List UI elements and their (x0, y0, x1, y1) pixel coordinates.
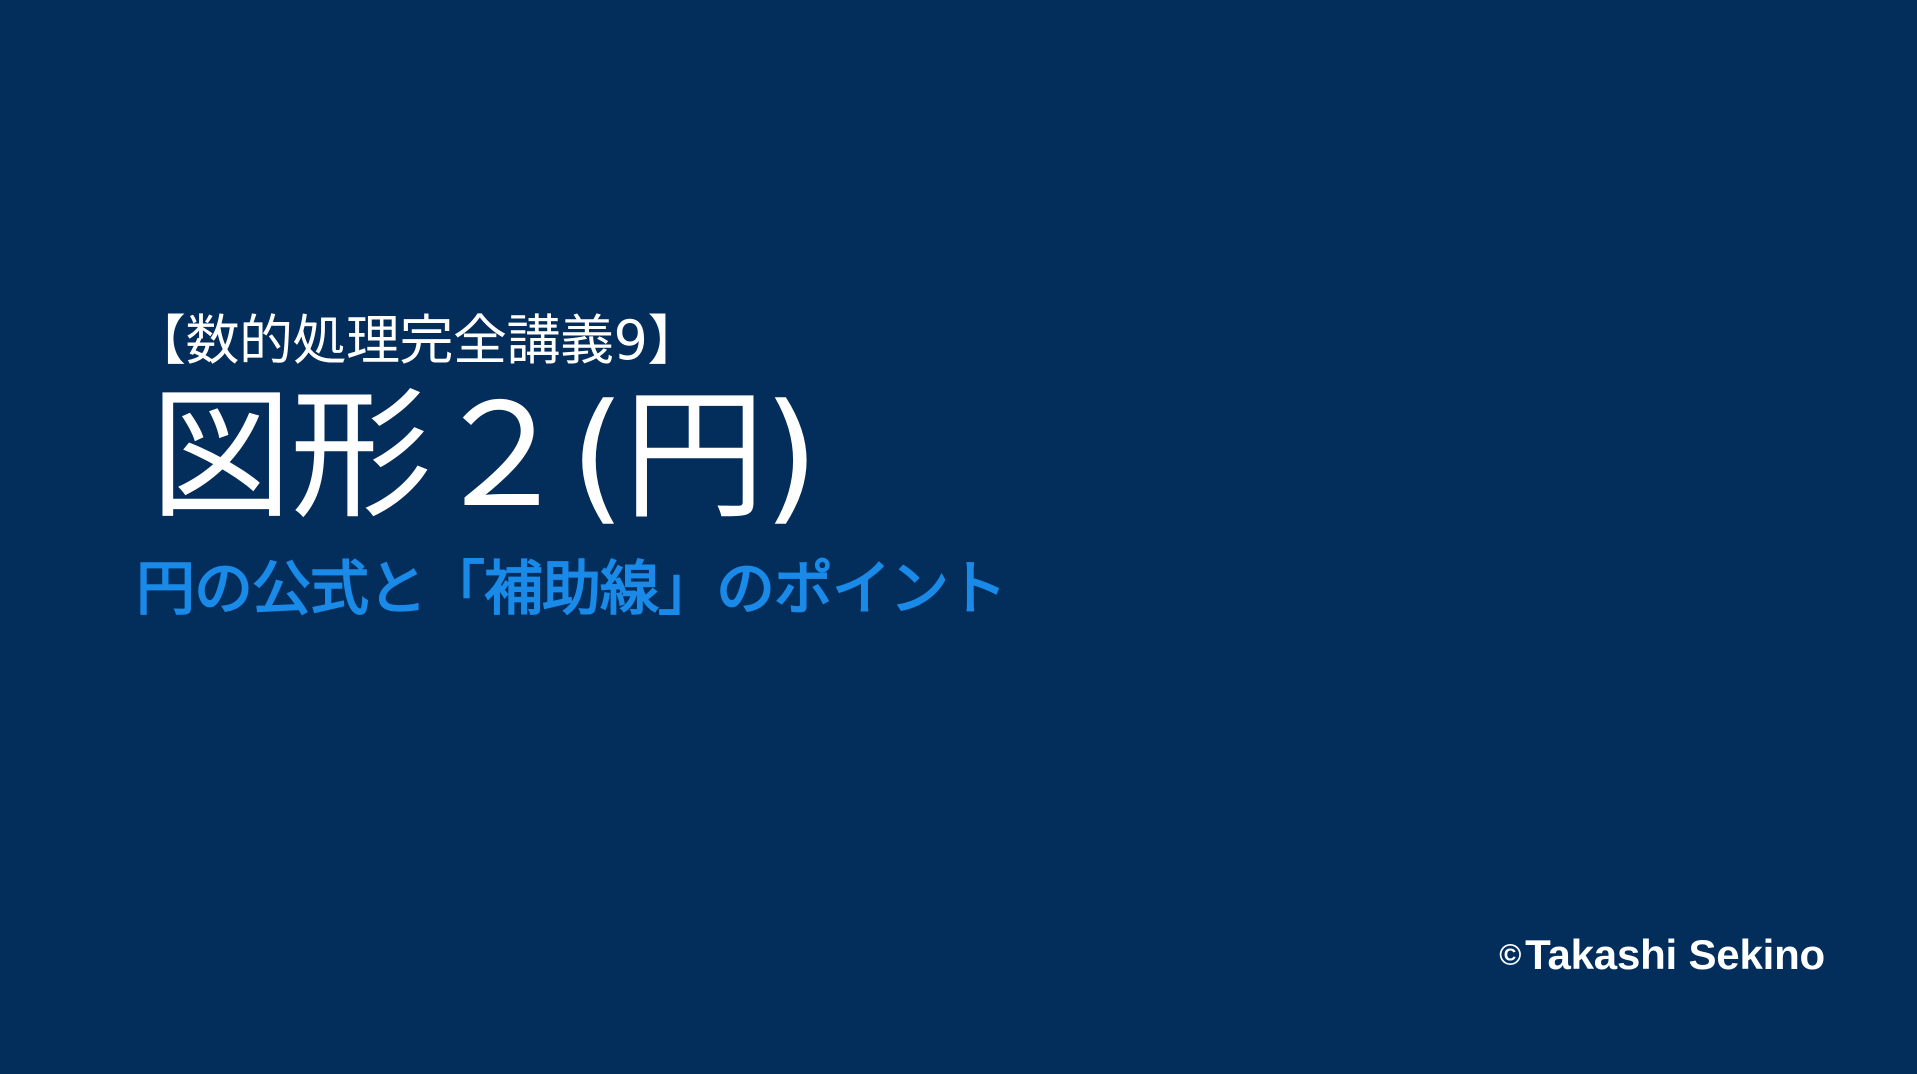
copyright-notice: ©Takashi Sekino (1499, 934, 1825, 976)
copyright-icon: © (1499, 939, 1521, 972)
copyright-name: Takashi Sekino (1525, 931, 1825, 978)
series-eyebrow: 【数的処理完全講義9】 (132, 312, 1532, 369)
title-block: 【数的処理完全講義9】 図形２(円) 円の公式と「補助線」のポイント (132, 312, 1532, 623)
title-slide: 【数的処理完全講義9】 図形２(円) 円の公式と「補助線」のポイント ©Taka… (0, 0, 1917, 1074)
page-subtitle: 円の公式と「補助線」のポイント (136, 555, 1532, 623)
page-title: 図形２(円) (150, 373, 1532, 541)
